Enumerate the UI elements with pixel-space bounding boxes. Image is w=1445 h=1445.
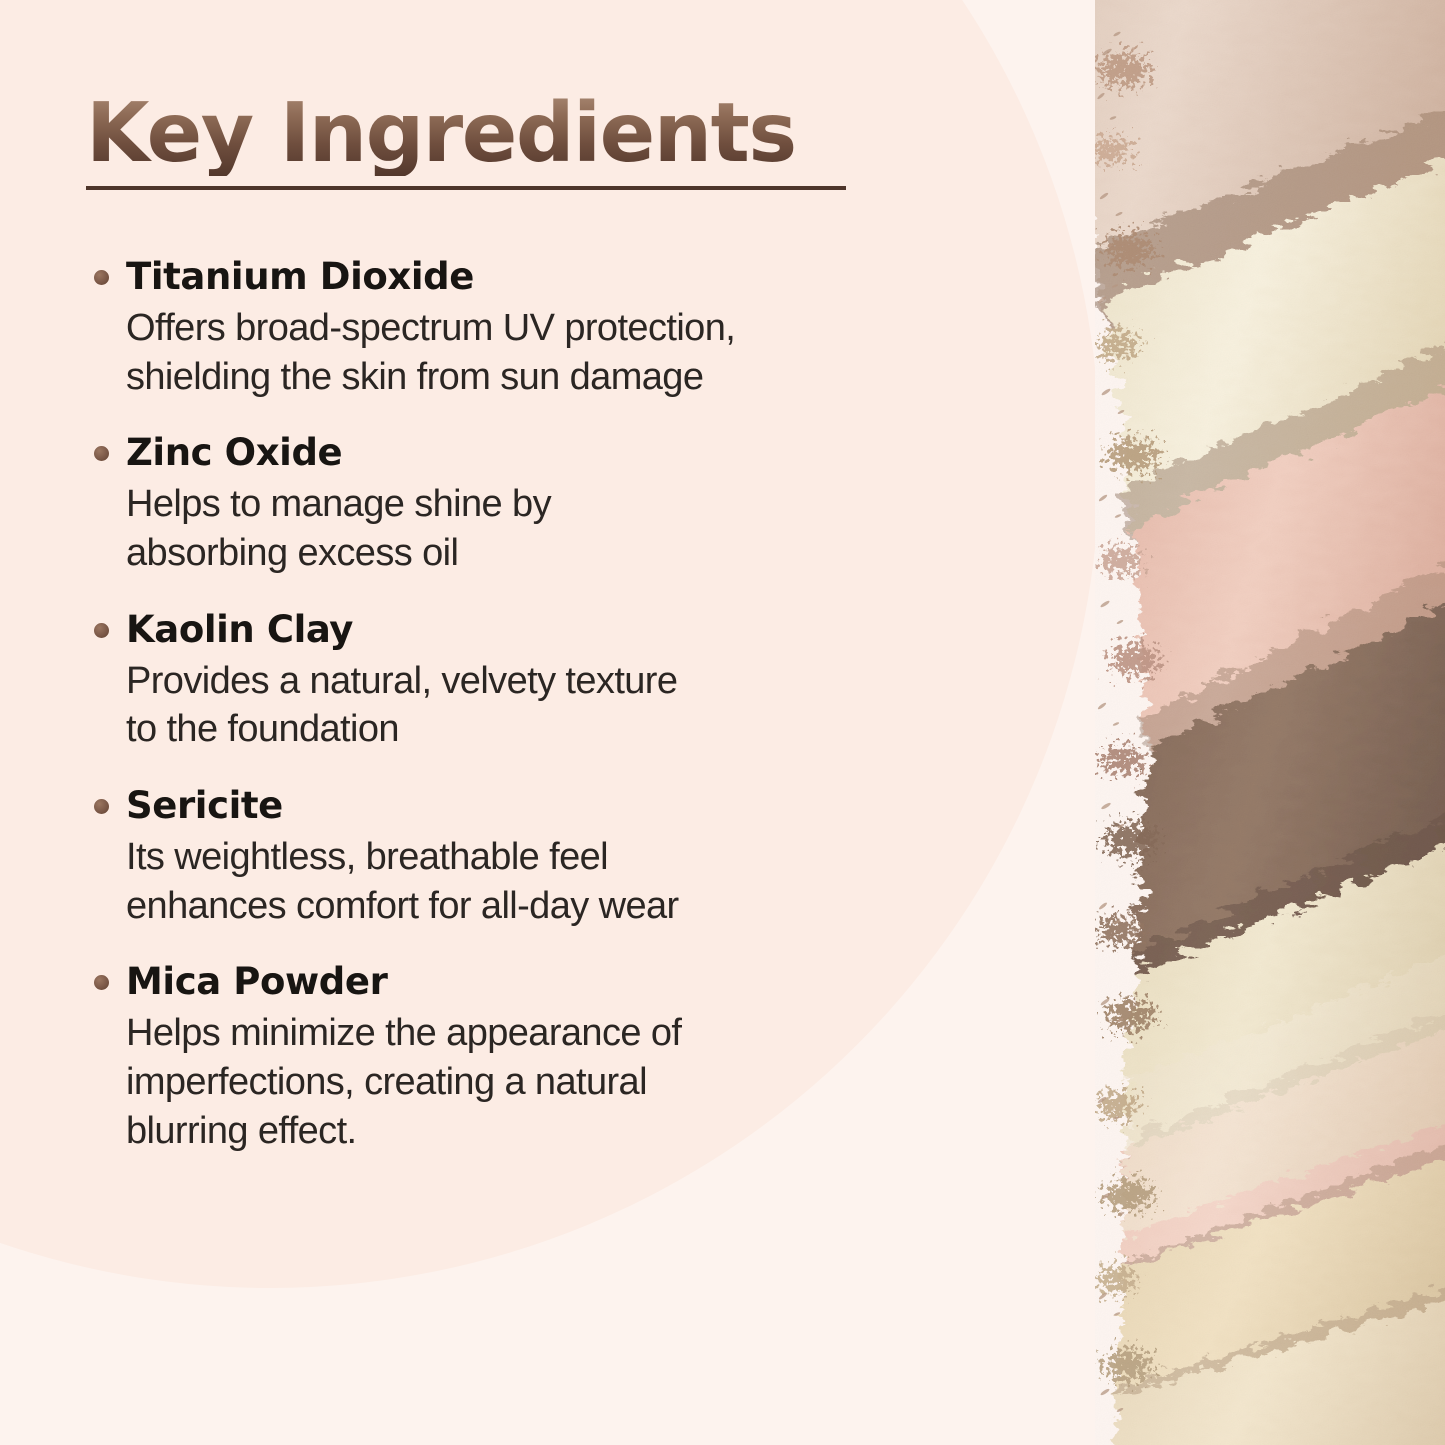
ingredient-description: Offers broad-spectrum UV protection, shi… (126, 304, 1026, 401)
ingredient-name: Mica Powder (126, 958, 1026, 1006)
list-item-mica-powder: Mica Powder Helps minimize the appearanc… (86, 958, 1026, 1155)
bullet-dot-icon (94, 799, 109, 814)
bullet-dot-icon (94, 270, 109, 285)
ingredient-description: Helps to manage shine by absorbing exces… (126, 480, 1026, 577)
powder-swatch-image (1095, 0, 1445, 1445)
ingredient-description: Provides a natural, velvety texture to t… (126, 657, 1026, 754)
bullet-dot-icon (94, 446, 109, 461)
page-title: Key Ingredients (86, 92, 802, 176)
ingredient-description: Helps minimize the appearance of imperfe… (126, 1009, 1026, 1155)
ingredient-name: Zinc Oxide (126, 429, 1026, 477)
text-column: Key Ingredients Titanium Dioxide Offers … (0, 0, 1080, 1445)
ingredient-name: Titanium Dioxide (126, 253, 1026, 301)
ingredient-name: Kaolin Clay (126, 606, 1026, 654)
bullet-dot-icon (94, 975, 109, 990)
title-underline (86, 186, 846, 190)
list-item-titanium-dioxide: Titanium Dioxide Offers broad-spectrum U… (86, 253, 1026, 401)
list-item-kaolin-clay: Kaolin Clay Provides a natural, velvety … (86, 606, 1026, 754)
list-item-zinc-oxide: Zinc Oxide Helps to manage shine by abso… (86, 429, 1026, 577)
ingredient-list: Titanium Dioxide Offers broad-spectrum U… (86, 253, 1026, 1155)
powder-swatch-graphic (1095, 0, 1445, 1445)
page-title-wrapper: Key Ingredients (86, 92, 886, 176)
ingredient-description: Its weightless, breathable feel enhances… (126, 833, 1026, 930)
key-ingredients-infographic: Key Ingredients Titanium Dioxide Offers … (0, 0, 1445, 1445)
bullet-dot-icon (94, 623, 109, 638)
list-item-sericite: Sericite Its weightless, breathable feel… (86, 782, 1026, 930)
ingredient-name: Sericite (126, 782, 1026, 830)
